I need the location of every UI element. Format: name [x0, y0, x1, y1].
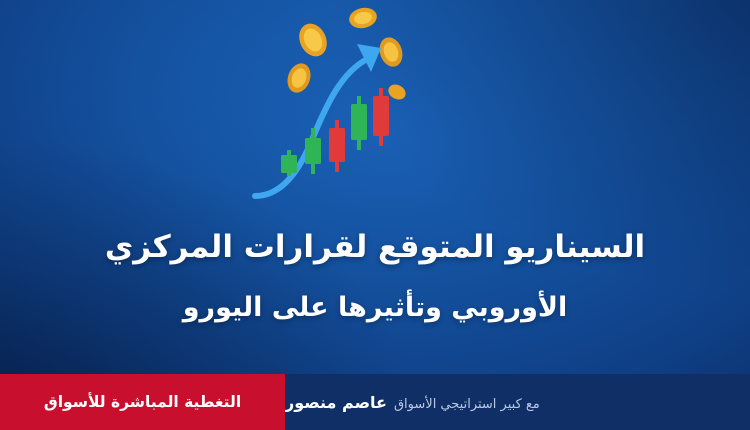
gold-coins-group [284, 5, 409, 102]
presenter-role: مع كبير استراتيجي الأسواق [394, 397, 540, 412]
lower-third-bar: مع كبير استراتيجي الأسواق عاصم منصور الت… [0, 374, 750, 430]
candlestick-graphic [245, 0, 505, 220]
broadcast-title-card: السيناريو المتوقع لقرارات المركزي الأورو… [0, 0, 750, 430]
program-panel: التغطية المباشرة للأسواق [0, 374, 285, 430]
arrow-head [357, 44, 381, 72]
chart-illustration [0, 0, 750, 240]
page-title-line2: الأوروبي وتأثيرها على اليورو [0, 290, 750, 325]
program-label: التغطية المباشرة للأسواق [44, 393, 241, 411]
candlesticks [281, 88, 389, 176]
presenter-name: عاصم منصور [285, 393, 387, 412]
presenter-panel: مع كبير استراتيجي الأسواق عاصم منصور [285, 374, 750, 430]
page-title-line1: السيناريو المتوقع لقرارات المركزي [0, 228, 750, 267]
